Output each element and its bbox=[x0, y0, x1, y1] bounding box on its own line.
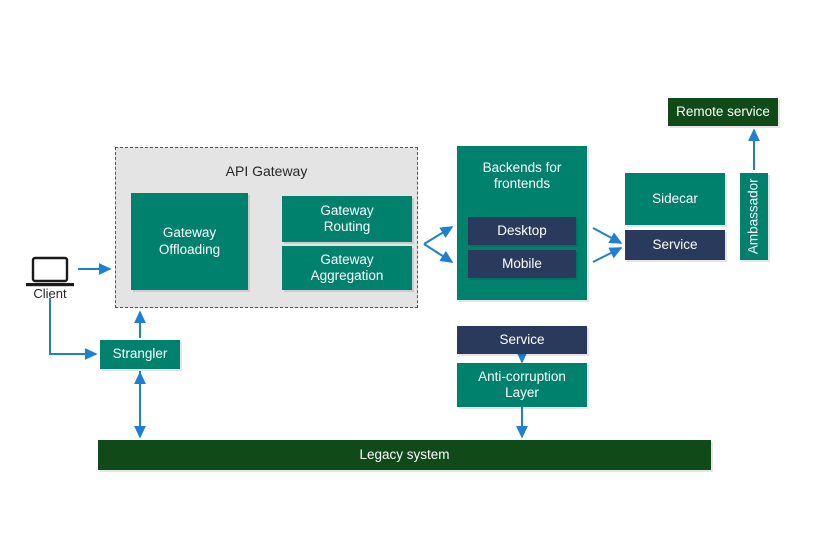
gateway-aggregation-label: Gateway Aggregation bbox=[311, 252, 384, 285]
strangler-label: Strangler bbox=[113, 346, 168, 362]
client-label: Client bbox=[20, 286, 80, 301]
bff-desktop-box[interactable]: Desktop bbox=[468, 217, 576, 245]
api-gateway-title: API Gateway bbox=[115, 163, 418, 179]
diagram-canvas: Client API Gateway Gateway Offloading Ga… bbox=[0, 0, 814, 540]
ambassador-box[interactable]: Ambassador bbox=[740, 173, 768, 260]
bff-title: Backends for frontends bbox=[483, 160, 562, 193]
acl-service-label: Service bbox=[499, 332, 544, 348]
bff-mobile-box[interactable]: Mobile bbox=[468, 250, 576, 278]
gateway-offloading-label: Gateway Offloading bbox=[159, 225, 220, 258]
gateway-routing-label: Gateway Routing bbox=[320, 203, 373, 236]
legacy-system-label: Legacy system bbox=[359, 447, 449, 463]
gateway-aggregation-box[interactable]: Gateway Aggregation bbox=[282, 246, 412, 290]
anti-corruption-layer-box[interactable]: Anti-corruption Layer bbox=[457, 363, 587, 407]
bff-desktop-label: Desktop bbox=[497, 223, 547, 239]
sidecar-service-box[interactable]: Service bbox=[625, 230, 725, 260]
legacy-system-box[interactable]: Legacy system bbox=[98, 440, 711, 470]
gateway-offloading-box[interactable]: Gateway Offloading bbox=[131, 193, 248, 290]
remote-service-box[interactable]: Remote service bbox=[668, 98, 778, 126]
acl-service-box[interactable]: Service bbox=[457, 326, 587, 354]
remote-service-label: Remote service bbox=[676, 104, 770, 120]
ambassador-label: Ambassador bbox=[746, 179, 762, 255]
strangler-box[interactable]: Strangler bbox=[100, 340, 180, 369]
sidecar-service-label: Service bbox=[652, 237, 697, 253]
gateway-routing-box[interactable]: Gateway Routing bbox=[282, 196, 412, 242]
bff-mobile-label: Mobile bbox=[502, 256, 542, 272]
sidecar-label: Sidecar bbox=[652, 191, 698, 207]
sidecar-box[interactable]: Sidecar bbox=[625, 173, 725, 225]
anti-corruption-layer-label: Anti-corruption Layer bbox=[478, 369, 566, 402]
